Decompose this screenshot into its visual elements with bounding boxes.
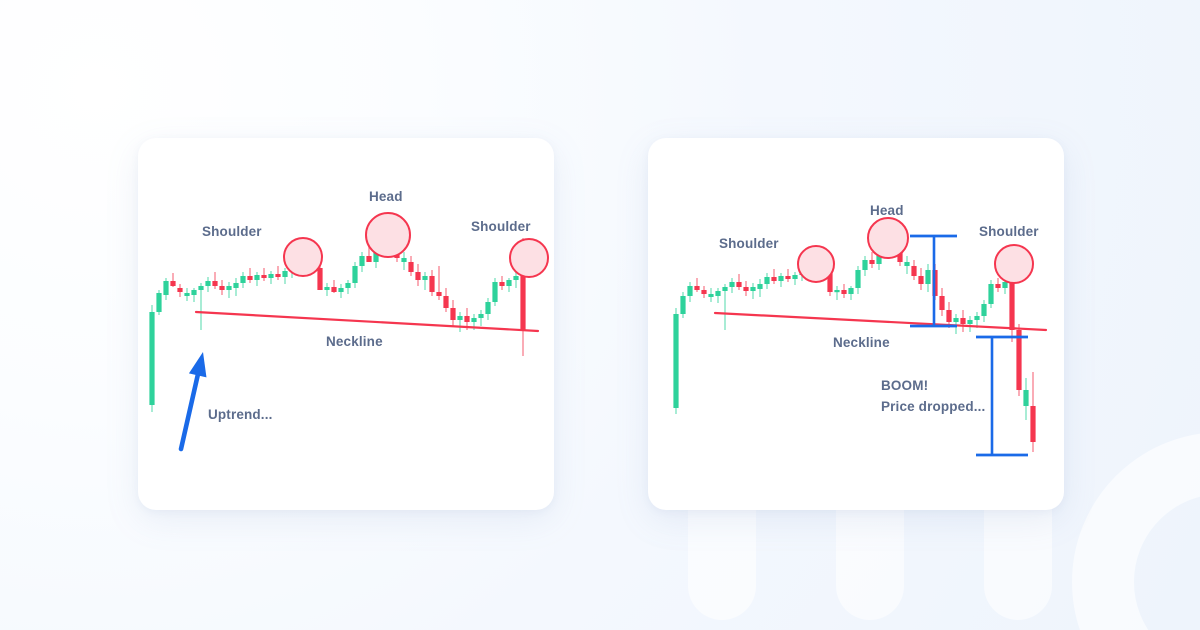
candle-body [401, 258, 406, 262]
uptrend-arrow-shaft [181, 370, 199, 449]
label-neckline-left-panel: Neckline [326, 333, 383, 351]
candle-series [149, 225, 525, 412]
candle-body [778, 276, 783, 281]
candle-body [324, 287, 329, 290]
candle-body [149, 312, 154, 405]
candle-body [499, 282, 504, 286]
candle-body [1030, 406, 1035, 442]
candle-body [415, 272, 420, 280]
candle-body [205, 281, 210, 286]
label-price_dropped-right-panel: Price dropped... [881, 398, 985, 416]
candle-body [841, 290, 846, 294]
candle-body [855, 270, 860, 288]
candle-body [925, 270, 930, 284]
candle-body [764, 277, 769, 284]
candle-body [422, 276, 427, 280]
candle-body [967, 320, 972, 324]
candle-body [345, 283, 350, 288]
candle-body [457, 316, 462, 320]
candle-body [191, 290, 196, 295]
candle-body [953, 318, 958, 322]
candle-body [240, 276, 245, 283]
candle-body [911, 266, 916, 276]
label-shoulder_left-left-panel: Shoulder [202, 223, 262, 241]
candle-body [506, 280, 511, 286]
candle-body [792, 275, 797, 279]
candle-body [464, 316, 469, 322]
candle-body [1016, 330, 1021, 390]
candle-body [701, 290, 706, 294]
candle-body [1023, 390, 1028, 406]
candle-body [834, 290, 839, 292]
candle-body [317, 268, 322, 290]
candle-body [485, 302, 490, 314]
chart-card-right [648, 138, 1064, 510]
label-shoulder_left-right-panel: Shoulder [719, 235, 779, 253]
candle-body [736, 282, 741, 287]
candle-body [743, 287, 748, 291]
screenshot-canvas: ShoulderHeadShoulderNecklineUptrend...Sh… [0, 0, 1200, 630]
candle-body [177, 288, 182, 292]
candlestick-chart-left [138, 138, 554, 510]
label-shoulder_right-right-panel: Shoulder [979, 223, 1039, 241]
candle-body [995, 284, 1000, 288]
candle-body [729, 282, 734, 287]
candle-body [436, 292, 441, 296]
right-shoulder-marker [995, 245, 1033, 283]
candle-body [848, 288, 853, 294]
neckline-trendline [196, 312, 538, 331]
label-head-left-panel: Head [369, 188, 403, 206]
label-head-right-panel: Head [870, 202, 904, 220]
candle-body [946, 310, 951, 322]
uptrend-arrow-head-icon [189, 352, 207, 377]
candle-body [492, 282, 497, 302]
candle-body [785, 276, 790, 279]
candle-body [771, 277, 776, 281]
candle-body [429, 276, 434, 292]
candle-body [471, 318, 476, 322]
candle-body [673, 314, 678, 408]
neckline-trendline [715, 313, 1046, 330]
candle-body [513, 276, 518, 280]
candle-body [184, 293, 189, 296]
candle-body [268, 274, 273, 278]
candlestick-chart-right [648, 138, 1064, 510]
head-marker [868, 218, 908, 258]
candle-body [366, 256, 371, 262]
left-shoulder-marker [798, 246, 834, 282]
label-uptrend-left-panel: Uptrend... [208, 406, 273, 424]
candle-body [694, 286, 699, 290]
candle-body [974, 316, 979, 320]
candle-body [233, 283, 238, 288]
candle-body [331, 287, 336, 292]
candle-body [163, 281, 168, 295]
candle-body [408, 262, 413, 272]
candle-body [247, 276, 252, 280]
candle-body [904, 262, 909, 266]
candle-body [359, 256, 364, 266]
candle-body [750, 287, 755, 291]
candle-body [960, 318, 965, 324]
label-shoulder_right-left-panel: Shoulder [471, 218, 531, 236]
candle-body [715, 291, 720, 296]
label-neckline-right-panel: Neckline [833, 334, 890, 352]
candle-body [450, 308, 455, 320]
candle-body [352, 266, 357, 283]
candle-body [219, 286, 224, 290]
candle-body [156, 293, 161, 312]
candle-body [254, 275, 259, 280]
candle-body [722, 287, 727, 291]
candle-body [869, 260, 874, 264]
watermark-ring-icon [1072, 432, 1200, 630]
candle-body [687, 286, 692, 296]
candle-body [261, 275, 266, 278]
head-marker [366, 213, 410, 257]
candle-body [918, 276, 923, 284]
right-shoulder-marker [510, 239, 548, 277]
candle-body [988, 284, 993, 304]
candle-body [212, 281, 217, 286]
candle-body [282, 271, 287, 277]
candle-body [226, 286, 231, 290]
candle-body [862, 260, 867, 270]
candle-body [939, 296, 944, 310]
candle-body [981, 304, 986, 316]
candle-body [275, 274, 280, 277]
candle-body [757, 284, 762, 289]
candle-body [443, 296, 448, 308]
chart-card-left [138, 138, 554, 510]
candle-body [338, 288, 343, 292]
left-shoulder-marker [284, 238, 322, 276]
candle-body [680, 296, 685, 314]
candle-body [708, 294, 713, 297]
candle-body [478, 314, 483, 318]
candle-body [170, 281, 175, 286]
label-boom-right-panel: BOOM! [881, 377, 928, 395]
candle-body [198, 286, 203, 290]
candle-body [1002, 282, 1007, 288]
